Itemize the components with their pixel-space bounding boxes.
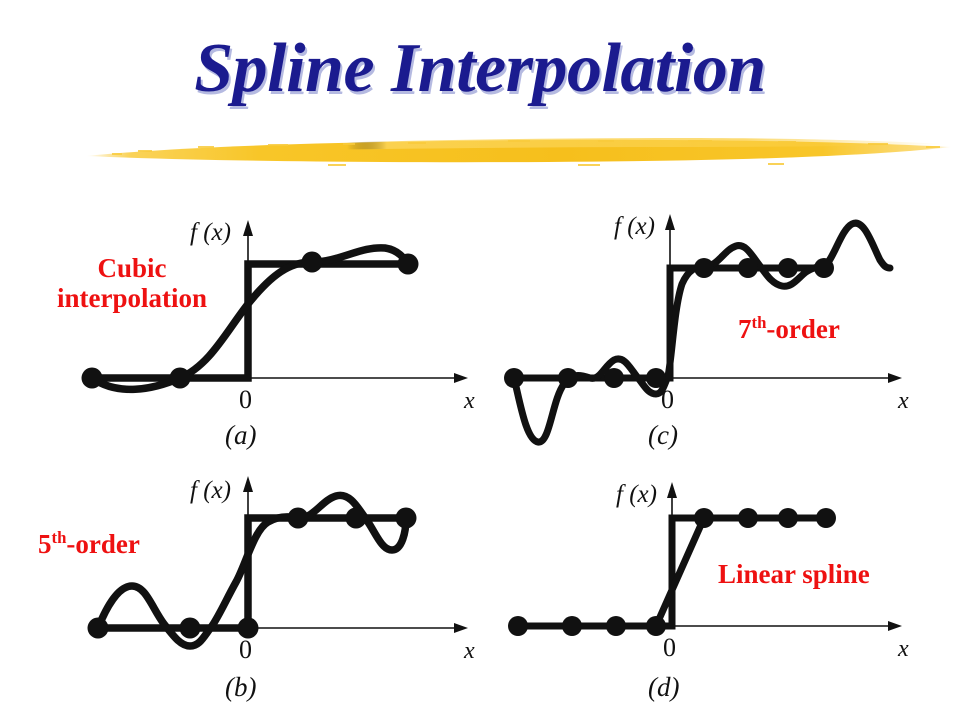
chart-b-step-function [98,518,406,628]
chart-d-xlabel: x [897,636,909,662]
chart-b-svg: f (x) x 0 (b) [40,456,500,708]
chart-a-knot [302,252,323,273]
chart-c-knot [694,258,714,278]
chart-c-svg: f (x) x 0 (c) [492,188,952,454]
callout-fifth-order-superscript: th [52,528,67,547]
chart-b-x-axis [248,623,468,633]
chart-c-ylabel: f (x) [614,213,655,240]
chart-a-x-axis [248,373,468,383]
callout-fifth-order-tail: -order [66,529,139,559]
chart-a-knot [170,368,191,389]
callout-seventh-order-tail: -order [766,314,839,344]
chart-b-knot [88,618,109,639]
chart-c-xlabel: x [897,388,909,414]
chart-c-panel-label: (c) [648,420,678,450]
chart-d-x-axis [672,621,902,631]
chart-c-knot [604,368,624,388]
chart-d-panel-label: (d) [648,672,679,702]
page-title: Spline Interpolation [0,34,960,104]
callout-seventh-order-superscript: th [752,313,767,332]
chart-c-origin-label: 0 [661,385,674,414]
chart-b-xlabel: x [463,638,475,664]
chart-d-knot [816,508,836,528]
chart-d-knot [562,616,582,636]
brush-stroke-divider [78,126,958,170]
chart-c-x-axis [670,373,902,383]
chart-d-knot [778,508,798,528]
chart-b-knot [396,508,417,529]
chart-c-knot [504,368,524,388]
chart-a-panel-label: (a) [225,420,256,450]
chart-d-origin-label: 0 [663,633,676,662]
chart-a-knot [398,254,419,275]
chart-d-knot [694,508,714,528]
callout-seventh-order: 7th-order [738,314,840,344]
chart-a-svg: f (x) x 0 (a) [40,192,500,454]
chart-c-knot [738,258,758,278]
chart-c-knot [778,258,798,278]
callout-cubic-interpolation: Cubic interpolation [36,253,228,313]
chart-panel-c: f (x) x 0 (c) [492,188,952,454]
callout-fifth-order-base: 5 [38,529,52,559]
chart-b-knot [288,508,309,529]
chart-a-knot [82,368,103,389]
callout-fifth-order: 5th-order [38,529,140,559]
chart-d-knot [508,616,528,636]
chart-a-origin-label: 0 [239,385,252,414]
chart-c-knot [558,368,578,388]
chart-b-knot [346,508,367,529]
chart-a-xlabel: x [463,388,475,414]
chart-b-ylabel: f (x) [190,477,231,504]
chart-panel-a: f (x) x 0 (a) [40,192,500,454]
chart-a-ylabel: f (x) [190,219,231,246]
chart-c-knot [814,258,834,278]
chart-d-ylabel: f (x) [616,481,657,508]
chart-b-knot [180,618,201,639]
brush-stroke-icon [78,126,958,170]
chart-b-origin-label: 0 [239,635,252,664]
callout-seventh-order-base: 7 [738,314,752,344]
chart-panel-b: f (x) x 0 (b) [40,456,500,708]
chart-b-panel-label: (b) [225,672,256,702]
chart-d-knot [606,616,626,636]
chart-d-knot [738,508,758,528]
callout-linear-spline: Linear spline [718,559,870,589]
